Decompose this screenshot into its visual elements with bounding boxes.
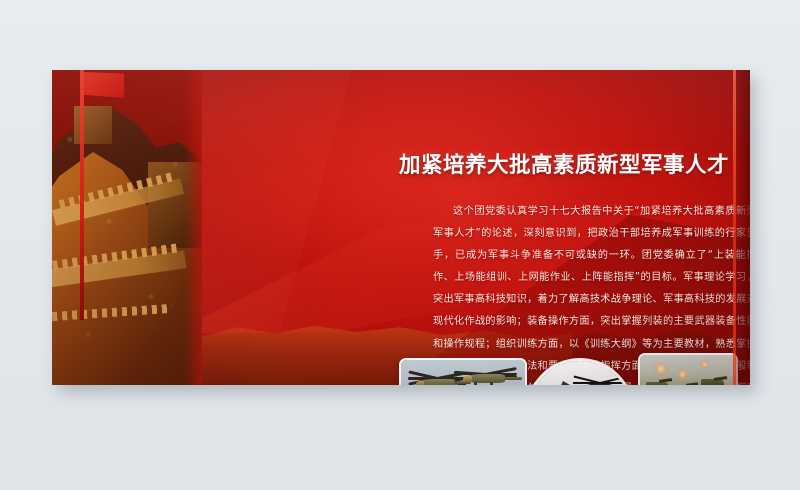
explosion-icon bbox=[676, 368, 688, 380]
helicopter-nose bbox=[416, 381, 424, 385]
helicopter-tail bbox=[504, 377, 522, 380]
page-background: 加紧培养大批高素质新型军事人才 这个团党委认真学习十七大报告中关于“加紧培养大批… bbox=[0, 0, 800, 490]
helicopter-icon bbox=[580, 377, 621, 385]
great-wall-photo bbox=[52, 70, 202, 385]
helicopter-icon bbox=[465, 374, 505, 385]
tank-icon bbox=[701, 379, 724, 385]
tank-exercise-photo[interactable] bbox=[638, 353, 738, 385]
radar-helicopter-photo[interactable] bbox=[526, 358, 634, 385]
explosion-icon bbox=[700, 359, 711, 370]
page-title: 加紧培养大批高素质新型军事人才 bbox=[384, 154, 744, 178]
explosion-icon bbox=[653, 361, 668, 377]
landing-gear bbox=[474, 382, 477, 385]
photo-edge-blend bbox=[184, 70, 202, 385]
helicopters-photo[interactable] bbox=[399, 358, 527, 385]
photo-grain bbox=[52, 70, 202, 385]
landing-gear bbox=[490, 382, 493, 385]
tank-icon bbox=[646, 382, 669, 385]
red-flag bbox=[84, 72, 124, 98]
helicopter-icon bbox=[418, 379, 455, 385]
right-edge-shade bbox=[736, 70, 750, 385]
helicopter-nose bbox=[463, 376, 472, 381]
red-flag-pole bbox=[80, 70, 84, 320]
military-training-propaganda-banner: 加紧培养大批高素质新型军事人才 这个团党委认真学习十七大报告中关于“加紧培养大批… bbox=[52, 70, 750, 385]
